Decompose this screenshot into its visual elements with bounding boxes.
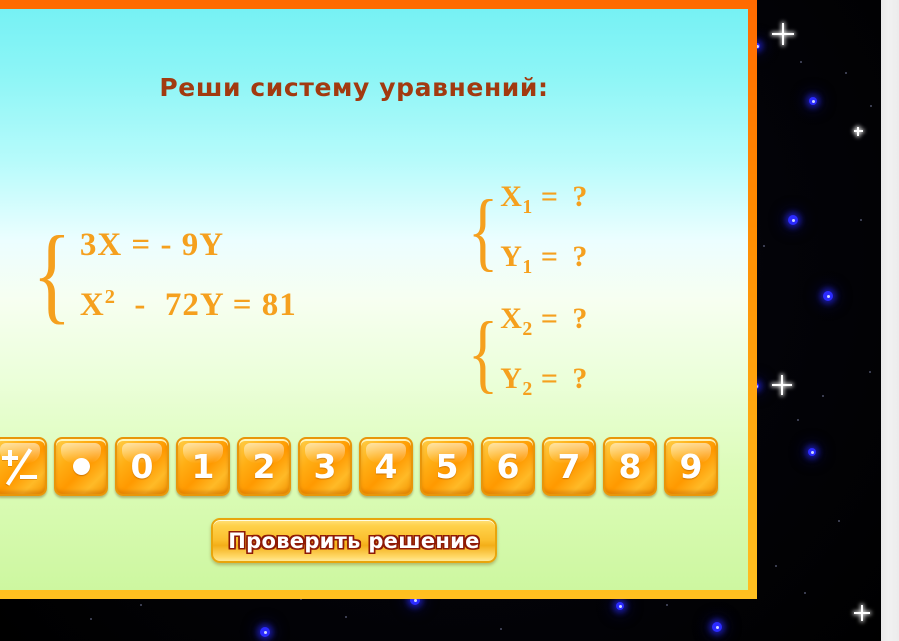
- star-dim: [500, 628, 502, 630]
- star-dim: [822, 395, 824, 397]
- answer-equals: =: [541, 240, 559, 273]
- brace-icon: {: [32, 233, 71, 317]
- answer-value-x2[interactable]: ?: [572, 302, 588, 335]
- answer-value-y2[interactable]: ?: [572, 362, 588, 395]
- answer-row-x2: X2 =?: [500, 294, 588, 354]
- star-dim: [90, 618, 92, 620]
- star-sparkle: [854, 605, 870, 621]
- answer-value-x1[interactable]: ?: [572, 180, 588, 213]
- star-dim: [797, 419, 799, 421]
- equation-rest: - 72Y = 81: [116, 287, 297, 323]
- answer-var: X: [500, 180, 522, 213]
- star-blue: [260, 627, 270, 637]
- key-decimal[interactable]: [54, 437, 108, 496]
- brace-icon: {: [468, 322, 498, 385]
- plus-minus-icon: [0, 448, 40, 486]
- right-side-panel: [881, 0, 899, 641]
- equation-system: { 3X = - 9Y X2 - 72Y = 81: [26, 219, 297, 331]
- star-dim: [140, 604, 142, 606]
- answer-var: Y: [500, 362, 522, 395]
- equation-row-1: 3X = - 9Y: [80, 219, 297, 271]
- key-digit-5[interactable]: 5: [420, 437, 474, 496]
- answer-row-y1: Y1 =?: [500, 232, 588, 292]
- star-dim: [804, 592, 806, 594]
- equation-var: X: [80, 287, 105, 323]
- answers-panel: { X1 =? Y1 =? { X2 =? Y2 =?: [462, 172, 588, 416]
- star-blue: [808, 448, 816, 456]
- answer-equals: =: [541, 302, 559, 335]
- star-dim: [870, 105, 872, 107]
- key-label: 4: [375, 450, 398, 483]
- equation-row-2: X2 - 72Y = 81: [80, 271, 297, 331]
- key-label: 2: [253, 450, 276, 483]
- key-sign[interactable]: [0, 437, 47, 496]
- slide-content: Реши систему уравнений: { 3X = - 9Y X2 -…: [0, 9, 748, 590]
- key-label: 5: [436, 450, 459, 483]
- star-dim: [775, 565, 777, 567]
- star-dim: [845, 72, 847, 74]
- star-blue: [788, 215, 798, 225]
- key-digit-2[interactable]: 2: [237, 437, 291, 496]
- key-digit-8[interactable]: 8: [603, 437, 657, 496]
- star-dim: [800, 61, 802, 63]
- key-digit-0[interactable]: 0: [115, 437, 169, 496]
- key-digit-3[interactable]: 3: [298, 437, 352, 496]
- answer-index: 1: [522, 256, 532, 278]
- key-label: 3: [314, 450, 337, 483]
- check-solution-label: Проверить решение: [228, 529, 479, 553]
- answer-equals: =: [541, 362, 559, 395]
- star-dim: [838, 520, 840, 522]
- star-blue: [712, 622, 722, 632]
- key-digit-4[interactable]: 4: [359, 437, 413, 496]
- star-dim: [345, 616, 347, 618]
- answer-row-y2: Y2 =?: [500, 354, 588, 414]
- star-blue: [809, 97, 817, 105]
- key-digit-9[interactable]: 9: [664, 437, 718, 496]
- check-solution-button[interactable]: Проверить решение: [211, 518, 497, 563]
- key-label: 0: [131, 450, 154, 483]
- key-digit-7[interactable]: 7: [542, 437, 596, 496]
- screen: Реши систему уравнений: { 3X = - 9Y X2 -…: [0, 0, 899, 641]
- star-dim: [763, 245, 765, 247]
- star-dim: [869, 371, 871, 373]
- page-title: Реши систему уравнений:: [0, 73, 708, 102]
- brace-icon: {: [468, 200, 498, 263]
- answer-index: 2: [522, 318, 532, 340]
- star-dim: [860, 219, 862, 221]
- answer-index: 1: [522, 196, 532, 218]
- answer-index: 2: [522, 378, 532, 400]
- slide: Реши систему уравнений: { 3X = - 9Y X2 -…: [0, 0, 757, 599]
- answer-var: X: [500, 302, 522, 335]
- star-blue: [616, 602, 624, 610]
- key-label: 6: [497, 450, 520, 483]
- key-label: 7: [558, 450, 581, 483]
- answer-group-1: { X1 =? Y1 =?: [462, 172, 588, 292]
- answer-group-2: { X2 =? Y2 =?: [462, 294, 588, 414]
- star-sparkle: [772, 23, 794, 45]
- answer-row-x1: X1 =?: [500, 172, 588, 232]
- star-sparkle: [854, 127, 863, 136]
- keypad: 0123456789: [0, 437, 718, 496]
- equation-exponent: 2: [105, 286, 116, 308]
- star-dim: [666, 604, 668, 606]
- star-sparkle: [772, 375, 792, 395]
- answer-var: Y: [500, 240, 522, 273]
- answer-equals: =: [541, 180, 559, 213]
- slide-border: Реши систему уравнений: { 3X = - 9Y X2 -…: [0, 0, 757, 599]
- key-label: 9: [680, 450, 703, 483]
- star-blue: [823, 291, 833, 301]
- decimal-point-icon: [73, 458, 90, 475]
- key-label: 8: [619, 450, 642, 483]
- key-digit-1[interactable]: 1: [176, 437, 230, 496]
- key-label: 1: [192, 450, 215, 483]
- answer-value-y1[interactable]: ?: [572, 240, 588, 273]
- key-digit-6[interactable]: 6: [481, 437, 535, 496]
